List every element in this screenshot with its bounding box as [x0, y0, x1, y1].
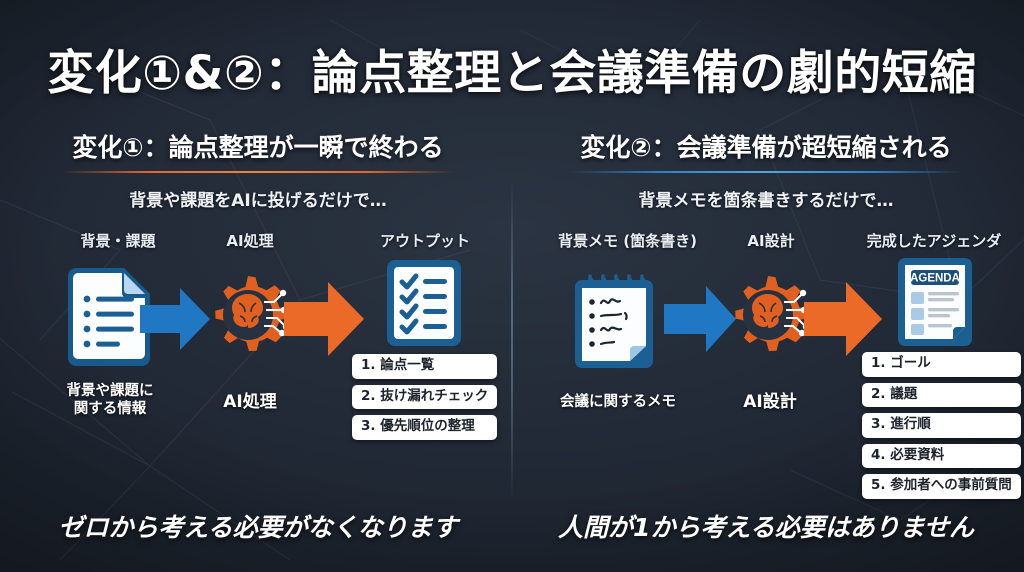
- step-label-right-output: 完成したアジェンダ: [848, 230, 1020, 251]
- caption-left-process: AI処理: [196, 392, 304, 413]
- footer-left: ゼロから考える必要がなくなります: [8, 508, 508, 544]
- checklist-document-icon: [385, 258, 463, 348]
- panel-right-subheading: 背景メモを箇条書きするだけで…: [516, 186, 1016, 211]
- result-chip[interactable]: 4. 必要資料: [862, 444, 1021, 469]
- result-chip[interactable]: 2. 議題: [862, 383, 1021, 408]
- agenda-document-icon: AGENDA: [896, 256, 974, 348]
- panel-right-heading: 変化②：会議準備が超短縮される: [516, 128, 1016, 164]
- result-chip[interactable]: 1. 論点一覧: [352, 354, 497, 379]
- caption-left-input-line2: 関する情報: [48, 401, 172, 419]
- panel-left-subheading: 背景や課題をAIに投げるだけで…: [8, 186, 508, 211]
- caption-left-input: 背景や課題に 関する情報: [48, 383, 172, 418]
- step-label-right-input: 背景メモ (箇条書き): [525, 230, 730, 251]
- result-chip[interactable]: 1. ゴール: [862, 352, 1021, 377]
- panel-left-heading-rule: [62, 171, 454, 173]
- result-chip[interactable]: 3. 優先順位の整理: [352, 415, 497, 440]
- caption-left-input-line1: 背景や課題に: [48, 383, 172, 401]
- caption-right-input: 会議に関するメモ: [548, 394, 688, 412]
- step-label-left-input: 背景・課題: [38, 230, 198, 251]
- notepad-scribble-icon: [570, 268, 662, 372]
- step-label-right-process: AI設計: [706, 230, 836, 251]
- caption-right-process: AI設計: [716, 392, 824, 413]
- panel-left-heading: 変化①：論点整理が一瞬で終わる: [8, 128, 508, 164]
- result-chip[interactable]: 3. 進行順: [862, 413, 1021, 438]
- footer-right: 人間が1から考える必要はありません: [516, 508, 1016, 544]
- page-title: 変化①&②：論点整理と会議準備の劇的短縮: [0, 34, 1024, 103]
- arrow-right-orange-right-panel: [804, 282, 882, 356]
- results-list-left: 1. 論点一覧 2. 抜け漏れチェック 3. 優先順位の整理: [352, 354, 497, 440]
- result-chip[interactable]: 2. 抜け漏れチェック: [352, 385, 497, 410]
- result-chip[interactable]: 5. 参加者への事前質問: [862, 474, 1021, 499]
- agenda-banner-text: AGENDA: [910, 273, 960, 285]
- slide-canvas: 変化①&②：論点整理と会議準備の劇的短縮 変化①：論点整理が一瞬で終わる 背景や…: [0, 0, 1024, 572]
- results-list-right: 1. ゴール 2. 議題 3. 進行順 4. 必要資料 5. 参加者への事前質問: [862, 352, 1021, 499]
- caption-right-input-line1: 会議に関するメモ: [548, 394, 688, 412]
- arrow-right-orange-left-panel: [284, 282, 364, 356]
- panel-divider: [511, 180, 513, 500]
- panel-right-heading-rule: [570, 171, 962, 173]
- step-label-left-output: アウトプット: [345, 230, 505, 251]
- step-label-left-process: AI処理: [180, 230, 320, 251]
